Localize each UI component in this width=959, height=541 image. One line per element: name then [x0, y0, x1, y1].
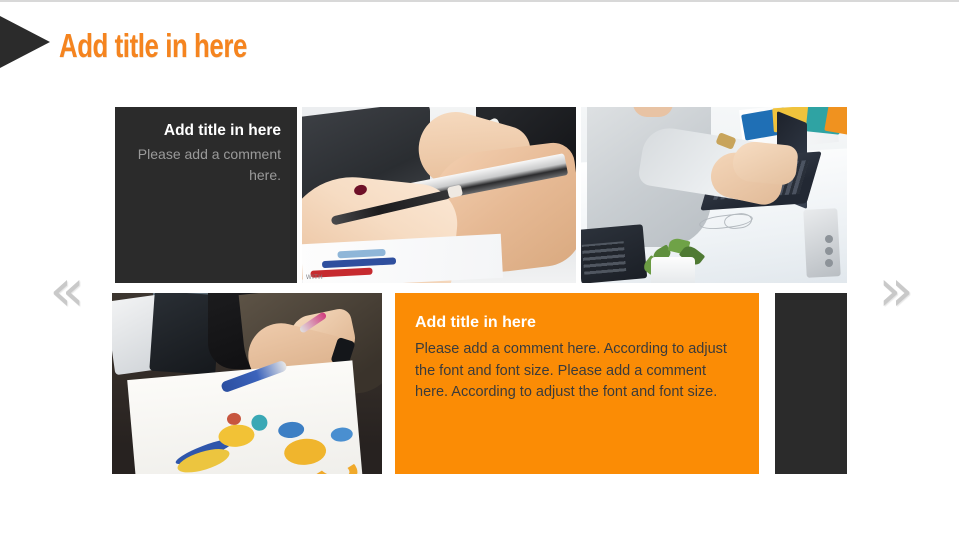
- dark-note-card[interactable]: Add title in here Please add a comment h…: [115, 107, 297, 283]
- slide-canvas: Add title in here « » Add title in here …: [0, 0, 959, 541]
- orange-note-title: Add title in here: [415, 312, 737, 334]
- photo-decor: [322, 257, 396, 268]
- photo-tile-drawing-diagram[interactable]: [112, 293, 382, 474]
- photo-decor: [278, 421, 305, 439]
- photo-decor: [651, 257, 695, 283]
- photo-tile-stylus-tablet[interactable]: WITH: [302, 107, 576, 283]
- dark-note-body: Add title in here Please add a comment h…: [115, 107, 297, 186]
- photo-decor: [825, 259, 833, 267]
- photo-tile-woman-laptop[interactable]: [581, 107, 847, 283]
- dark-note-title: Add title in here: [129, 121, 281, 141]
- photo-decor: [337, 249, 385, 259]
- photo-decor: [825, 247, 833, 255]
- orange-note-card[interactable]: Add title in here Please add a comment h…: [395, 293, 759, 474]
- photo-decor: [251, 414, 268, 431]
- photo-decor: [803, 208, 841, 278]
- photo-decor: [226, 412, 241, 425]
- photo-decor: [330, 427, 353, 443]
- photo-stylus-tablet-image: WITH: [302, 107, 576, 283]
- photo-woman-laptop-image: [581, 107, 847, 283]
- photo-decor: [582, 241, 626, 275]
- dark-note-text: Please add a comment here.: [129, 144, 281, 186]
- photo-watermark-left: WITH: [306, 275, 323, 281]
- photo-decor: [218, 423, 256, 448]
- photo-drawing-diagram-image: [112, 293, 382, 474]
- photo-decor: [824, 107, 847, 135]
- dark-strip-card[interactable]: [775, 293, 847, 474]
- orange-note-text: Please add a comment here. According to …: [415, 339, 737, 404]
- gallery-grid: Add title in here Please add a comment h…: [0, 2, 959, 541]
- photo-decor: [825, 235, 833, 243]
- orange-note-body: Add title in here Please add a comment h…: [395, 293, 759, 404]
- photo-decor: [731, 140, 799, 186]
